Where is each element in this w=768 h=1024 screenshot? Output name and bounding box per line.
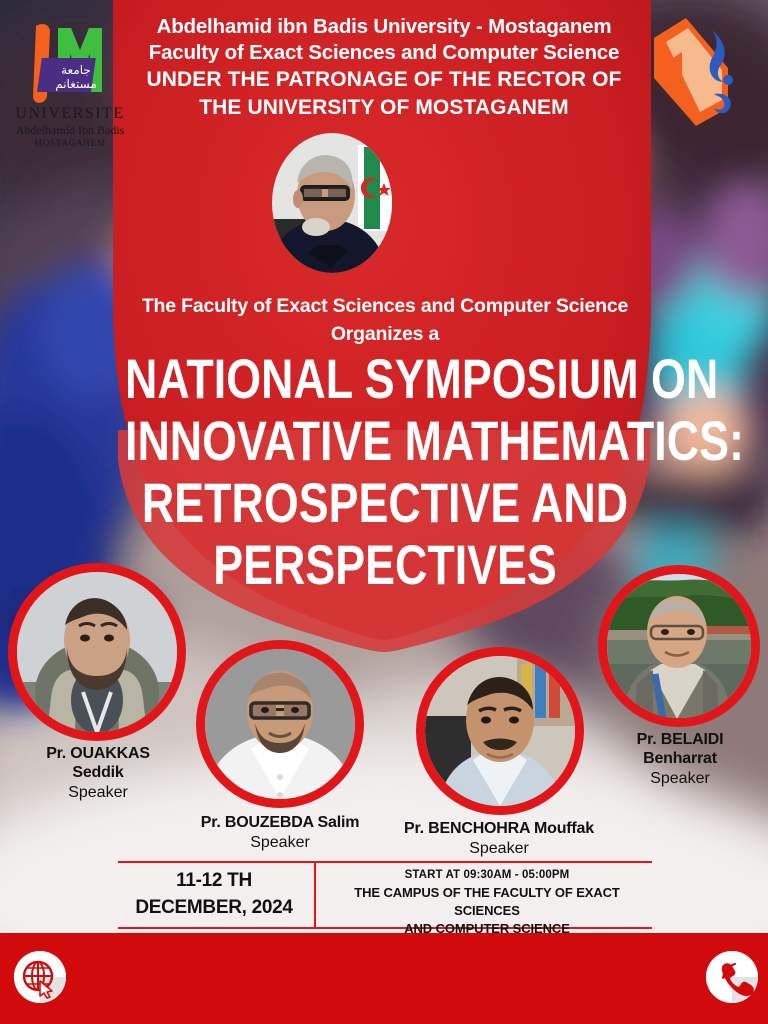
date-line-1: 11-12 TH [118, 867, 310, 894]
speaker-name-line-2: Benharrat [582, 749, 768, 768]
speaker-role: Speaker [582, 768, 768, 789]
event-time: START AT 09:30AM - 05:00PM [322, 867, 652, 884]
venue-line-1: THE CAMPUS OF THE FACULTY OF EXACT SCIEN… [322, 884, 652, 920]
title-line-3: RETROSPECTIVE AND [125, 472, 645, 534]
organizer-line-1: The Faculty of Exact Sciences and Comput… [90, 292, 680, 320]
speaker-role: Speaker [0, 782, 196, 803]
event-info-band: 11-12 TH DECEMBER, 2024 START AT 09:30AM… [118, 861, 652, 929]
info-divider [314, 863, 316, 927]
speaker-label-belaidi: Pr. BELAIDI Benharrat Speaker [582, 730, 768, 789]
speaker-name-line-1: Pr. BENCHOHRA Mouffak [368, 819, 630, 838]
info-top-rule [118, 861, 652, 863]
speaker-label-benchohra: Pr. BENCHOHRA Mouffak Speaker [368, 819, 630, 859]
header-line-4: THE UNIVERSITY OF MOSTAGANEM [104, 94, 664, 122]
event-venue: START AT 09:30AM - 05:00PM THE CAMPUS OF… [322, 867, 652, 938]
phone-icon [706, 951, 758, 1003]
speaker-name-line-2: Seddik [0, 763, 196, 782]
speaker-portrait-ouakkas [8, 563, 186, 741]
speaker-portrait-benchohra [416, 647, 584, 815]
speaker-name-line-1: Pr. BELAIDI [582, 730, 768, 749]
title-line-1: NATIONAL SYMPOSIUM ON [125, 348, 645, 410]
speaker-portrait-bouzebda [196, 640, 364, 808]
header-line-3: UNDER THE PATRONAGE OF THE RECTOR OF [104, 66, 664, 94]
globe-icon [14, 951, 66, 1003]
speaker-portrait-belaidi [598, 565, 760, 727]
organizer-text: The Faculty of Exact Sciences and Comput… [90, 292, 680, 348]
organizer-line-2: Organizes a [90, 320, 680, 348]
symposium-title: NATIONAL SYMPOSIUM ON INNOVATIVE MATHEMA… [60, 348, 710, 596]
poster-footer [0, 933, 768, 1024]
header-line-2: Faculty of Exact Sciences and Computer S… [104, 40, 664, 66]
speaker-label-ouakkas: Pr. OUAKKAS Seddik Speaker [0, 744, 196, 803]
rector-portrait [272, 133, 392, 273]
title-line-2: INNOVATIVE MATHEMATICS: [125, 410, 645, 472]
poster-header: Abdelhamid ibn Badis University - Mostag… [104, 14, 664, 122]
speaker-name-line-1: Pr. OUAKKAS [0, 744, 196, 763]
date-line-2: DECEMBER, 2024 [118, 894, 310, 921]
speaker-role: Speaker [368, 838, 630, 859]
header-line-1: Abdelhamid ibn Badis University - Mostag… [104, 14, 664, 40]
event-date: 11-12 TH DECEMBER, 2024 [118, 867, 310, 921]
title-line-4: PERSPECTIVES [125, 534, 645, 596]
conference-poster: جامعة مستغانم UNIVERSITE Abdelhamid Ibn … [0, 0, 768, 1024]
